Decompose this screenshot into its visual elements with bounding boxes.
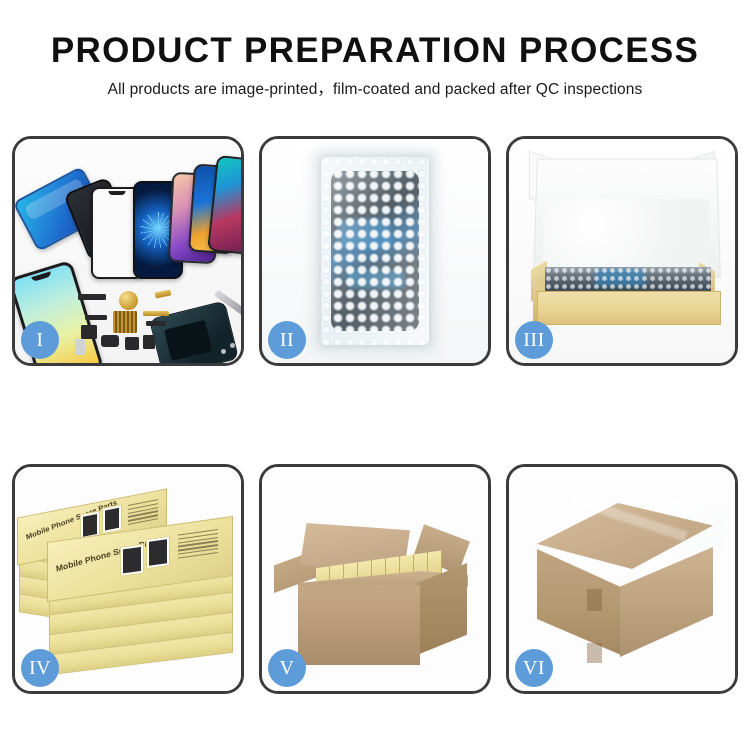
bubble-wrapped-package <box>321 157 429 345</box>
step-badge-4: IV <box>21 649 59 687</box>
box-product-image <box>102 504 122 534</box>
process-step-4: Mobile Phone Spare Parts Mobile Phone Sp… <box>12 464 244 694</box>
process-step-3: III <box>506 136 738 366</box>
sensor-part <box>143 335 155 349</box>
speaker-box-part <box>125 337 139 350</box>
power-button-flex-part <box>146 321 166 326</box>
carton-tape-strip <box>587 643 602 663</box>
sim-tray-part <box>75 339 85 355</box>
header: PRODUCT PREPARATION PROCESS All products… <box>0 0 750 101</box>
step-badge-6: VI <box>515 649 553 687</box>
screw-part <box>230 343 235 348</box>
antenna-flex-part <box>143 311 169 316</box>
process-steps-grid: I II <box>0 136 750 694</box>
step-badge-2: II <box>268 321 306 359</box>
box-product-image <box>146 536 170 569</box>
page-subtitle: All products are image-printed，film-coat… <box>0 79 750 101</box>
battery-cutout <box>164 320 213 362</box>
step-badge-5: V <box>268 649 306 687</box>
page-title: PRODUCT PREPARATION PROCESS <box>0 30 750 72</box>
process-step-5: V <box>259 464 491 694</box>
process-step-1: I <box>12 136 244 366</box>
ic-chip-part <box>113 311 137 333</box>
flex-cable-part <box>85 315 107 320</box>
carton-tape-strip <box>587 589 602 611</box>
carton-front-panel <box>298 585 420 665</box>
box-spec-lines <box>178 529 218 561</box>
process-step-2: II <box>259 136 491 366</box>
step-badge-3: III <box>515 321 553 359</box>
phone-notch <box>109 191 126 195</box>
box-brand-label: Mobile Phone Spare Parts <box>55 535 160 574</box>
box-product-image <box>120 543 144 576</box>
box-spec-lines <box>128 499 158 528</box>
kraft-box-front <box>537 291 721 325</box>
foam-padding <box>543 199 709 277</box>
wrap-film-sheen <box>321 157 429 345</box>
vibrator-part <box>101 335 119 347</box>
earpiece-mesh-part <box>78 294 106 300</box>
step-badge-1: I <box>21 321 59 359</box>
speaker-component <box>119 291 138 310</box>
camera-module-part <box>81 325 97 339</box>
process-step-6: VI <box>506 464 738 694</box>
screw-part <box>221 349 226 354</box>
phone-notch <box>31 271 52 282</box>
